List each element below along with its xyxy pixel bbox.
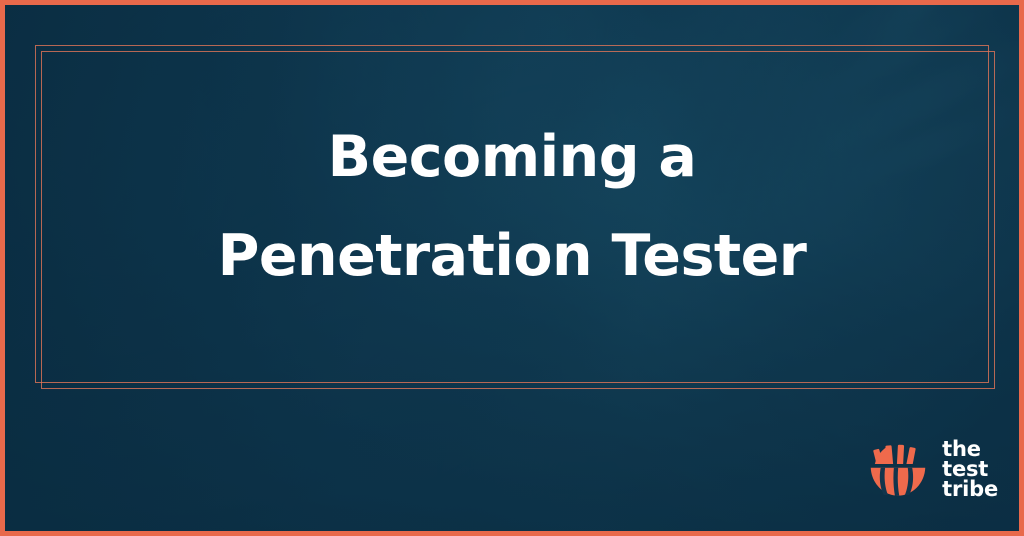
- the-test-tribe-globe-icon: [867, 438, 929, 500]
- title-line-1: Becoming a: [60, 108, 964, 207]
- brand-logo: the test tribe: [867, 438, 998, 500]
- brand-word-tribe: tribe: [942, 479, 998, 499]
- brand-word-test: test: [942, 459, 998, 479]
- brand-wordmark: the test tribe: [942, 439, 998, 499]
- page-title: Becoming a Penetration Tester: [0, 108, 1024, 306]
- brand-word-the: the: [942, 439, 998, 459]
- banner-graphic: Becoming a Penetration Tester: [0, 0, 1024, 536]
- title-line-2: Penetration Tester: [60, 207, 964, 306]
